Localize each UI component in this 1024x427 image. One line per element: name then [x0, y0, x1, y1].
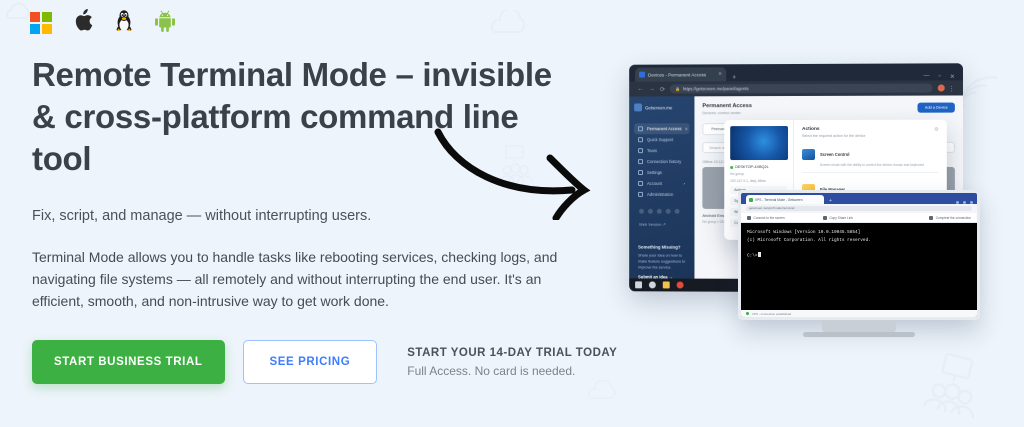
screen-icon	[747, 216, 751, 220]
start-business-trial-button[interactable]: START BUSINESS TRIAL	[32, 340, 225, 384]
connect-to-screen-button[interactable]: Connect to the screen	[747, 216, 785, 220]
promo-text: Share your idea on how to make feature s…	[638, 254, 685, 270]
browser-tab-title: Devices - Permanent Access	[648, 72, 706, 77]
status-text: VPS - connection established	[752, 312, 791, 316]
cta-row: START BUSINESS TRIAL SEE PRICING START Y…	[32, 340, 617, 384]
product-screenshot-mockup: Devices - Permanent Access ✕ + — ▫ ✕ ← →…	[620, 58, 980, 348]
support-icon	[638, 137, 643, 142]
monitor-icon	[638, 126, 643, 131]
gear-icon[interactable]: ⚙	[934, 127, 939, 133]
search-icon[interactable]	[649, 281, 656, 288]
url-input[interactable]: getscreen.me/vps?mode=terminal	[746, 206, 972, 212]
complete-connection-button[interactable]: Complete the connection	[929, 216, 971, 220]
trial-info: START YOUR 14-DAY TRIAL TODAY Full Acces…	[407, 347, 617, 378]
promo-title: Something Missing?	[638, 245, 685, 251]
android-icon	[155, 10, 175, 37]
monitor-base	[803, 332, 915, 337]
cloud-watermark	[486, 10, 538, 40]
power-icon	[929, 216, 933, 220]
lock-icon: 🔒	[675, 86, 680, 91]
sidebar-badge: 5	[685, 127, 687, 131]
start-icon[interactable]	[635, 281, 642, 288]
monitor-people-watermark	[920, 352, 990, 418]
dialog-title: Actions	[802, 127, 939, 132]
hand-drawn-arrow-icon	[432, 128, 614, 225]
browser-tab[interactable]: Devices - Permanent Access ✕	[635, 67, 726, 81]
web-version-link[interactable]: Web Version ↗	[639, 222, 689, 227]
admin-icon	[638, 192, 643, 197]
monitor-mockup: VPS - Terminal Mode - Getscreen + getscr…	[738, 190, 980, 342]
online-status-icon	[746, 312, 749, 315]
new-tab-button[interactable]: +	[732, 74, 736, 81]
add-device-button[interactable]: Add a Device	[918, 103, 955, 113]
avatar[interactable]	[937, 84, 944, 91]
sidebar-item-administration[interactable]: Administration	[634, 189, 689, 200]
maximize-icon[interactable]: ▫	[939, 73, 941, 80]
reload-icon[interactable]: ⟳	[660, 85, 665, 93]
account-icon	[638, 181, 643, 186]
console-prompt: C:\>	[747, 253, 758, 258]
copy-share-link-button[interactable]: Copy Share Link	[823, 216, 853, 220]
hero-section: Remote Terminal Mode – invisible & cross…	[0, 0, 1024, 427]
browser-extensions: ⋮	[937, 84, 955, 92]
gear-icon	[638, 170, 643, 175]
group-status-label: Offline	[702, 160, 712, 164]
file-explorer-icon[interactable]	[663, 281, 670, 288]
cursor-caret	[758, 252, 761, 257]
trial-note: Full Access. No card is needed.	[407, 364, 617, 378]
promo-card: Something Missing? Share your idea on ho…	[638, 245, 685, 281]
sidebar-item-label: Permanent Access	[647, 126, 682, 131]
platform-icon-row	[30, 8, 175, 38]
social-icon[interactable]	[648, 209, 653, 214]
sidebar-item-quick-support[interactable]: Quick Support	[634, 134, 689, 145]
window-controls: — ▫ ✕	[923, 73, 963, 80]
hero-body-text: Terminal Mode allows you to handle tasks…	[32, 246, 577, 312]
minimize-icon[interactable]: —	[923, 73, 929, 80]
menu-icon[interactable]: ⋮	[948, 84, 955, 92]
social-icon[interactable]	[639, 209, 644, 214]
sidebar-item-label: Team	[647, 148, 657, 153]
console-line-1: Microsoft Windows [Version 10.0.19045.58…	[747, 230, 860, 235]
history-icon	[638, 159, 643, 164]
forward-icon[interactable]: →	[648, 86, 654, 93]
favicon-icon	[639, 72, 645, 78]
terminal-tabbar: VPS - Terminal Mode - Getscreen +	[741, 193, 977, 204]
terminal-tab-title: VPS - Terminal Mode - Getscreen	[755, 198, 803, 202]
logo-icon	[634, 103, 642, 111]
app-logo[interactable]: Getscreen.me	[634, 103, 689, 111]
maximize-icon[interactable]	[963, 201, 966, 204]
social-icon[interactable]	[675, 209, 680, 214]
social-links	[639, 209, 689, 214]
terminal-status-bar: VPS - connection established	[741, 310, 977, 317]
app-sidebar: Getscreen.me Permanent Access 5 Quick Su…	[629, 96, 694, 291]
terminal-window: VPS - Terminal Mode - Getscreen + getscr…	[741, 193, 977, 317]
apple-icon	[74, 9, 93, 37]
device-preview	[730, 126, 788, 160]
sidebar-item-label: Settings	[647, 170, 662, 175]
close-window-icon[interactable]	[970, 201, 973, 204]
dialog-device-group: No group	[730, 172, 787, 176]
sidebar-item-settings[interactable]: Settings	[634, 167, 689, 178]
console-line-2: (c) Microsoft Corporation. All rights re…	[747, 238, 871, 243]
url-input[interactable]: 🔒 https://getscreen.me/panel/agents	[670, 83, 932, 93]
url-text: https://getscreen.me/panel/agents	[683, 86, 749, 91]
sidebar-item-label: Account	[647, 181, 662, 186]
sidebar-item-label: Connection history	[647, 159, 681, 164]
screen-control-icon	[802, 149, 815, 160]
dialog-device-name: DESKTOP-4XBQ2L	[730, 165, 787, 169]
browser-urlbar: ← → ⟳ 🔒 https://getscreen.me/panel/agent…	[629, 80, 963, 96]
new-tab-button[interactable]: +	[829, 198, 832, 204]
monitor-stand	[822, 320, 896, 332]
online-status-icon	[730, 166, 733, 169]
sidebar-item-label: Administration	[647, 192, 673, 197]
browser-tabbar: Devices - Permanent Access ✕ + — ▫ ✕	[629, 63, 963, 81]
sidebar-badge: ↗	[683, 181, 686, 185]
share-icon	[823, 216, 827, 220]
social-icon[interactable]	[657, 209, 662, 214]
trial-heading: START YOUR 14-DAY TRIAL TODAY	[407, 347, 617, 359]
terminal-tab[interactable]: VPS - Terminal Mode - Getscreen	[746, 195, 824, 204]
linux-icon	[115, 9, 133, 37]
sidebar-item-connection-history[interactable]: Connection history	[634, 156, 689, 167]
sidebar-item-team[interactable]: Team	[634, 145, 689, 156]
monitor-bezel: VPS - Terminal Mode - Getscreen + getscr…	[738, 190, 980, 320]
action-title: Screen Control	[820, 152, 849, 157]
minimize-icon[interactable]	[956, 201, 959, 204]
close-icon[interactable]: ✕	[718, 71, 722, 77]
favicon-icon	[749, 198, 753, 202]
action-item-screen-control[interactable]: Screen Control Screen mode with the abil…	[802, 138, 939, 173]
terminal-toolbar: Connect to the screen Copy Share Link Co…	[741, 213, 977, 223]
social-icon[interactable]	[666, 209, 671, 214]
dialog-device-ip: 192.147.0.1, Italy, Milan	[730, 179, 787, 183]
windows-icon	[30, 12, 52, 34]
chrome-icon[interactable]	[677, 282, 684, 289]
sidebar-item-permanent-access[interactable]: Permanent Access 5	[634, 123, 689, 134]
close-window-icon[interactable]: ✕	[950, 73, 955, 80]
terminal-console[interactable]: Microsoft Windows [Version 10.0.19045.58…	[741, 223, 977, 317]
back-icon[interactable]: ←	[637, 86, 643, 93]
sidebar-item-label: Quick Support	[647, 137, 673, 142]
terminal-urlbar: getscreen.me/vps?mode=terminal	[741, 204, 977, 213]
team-icon	[638, 148, 643, 153]
action-description: Screen mode with the ability to control …	[820, 162, 924, 166]
sidebar-item-account[interactable]: Account ↗	[634, 178, 689, 189]
window-controls	[956, 201, 977, 204]
see-pricing-button[interactable]: SEE PRICING	[243, 340, 378, 384]
app-logo-text: Getscreen.me	[645, 105, 672, 110]
